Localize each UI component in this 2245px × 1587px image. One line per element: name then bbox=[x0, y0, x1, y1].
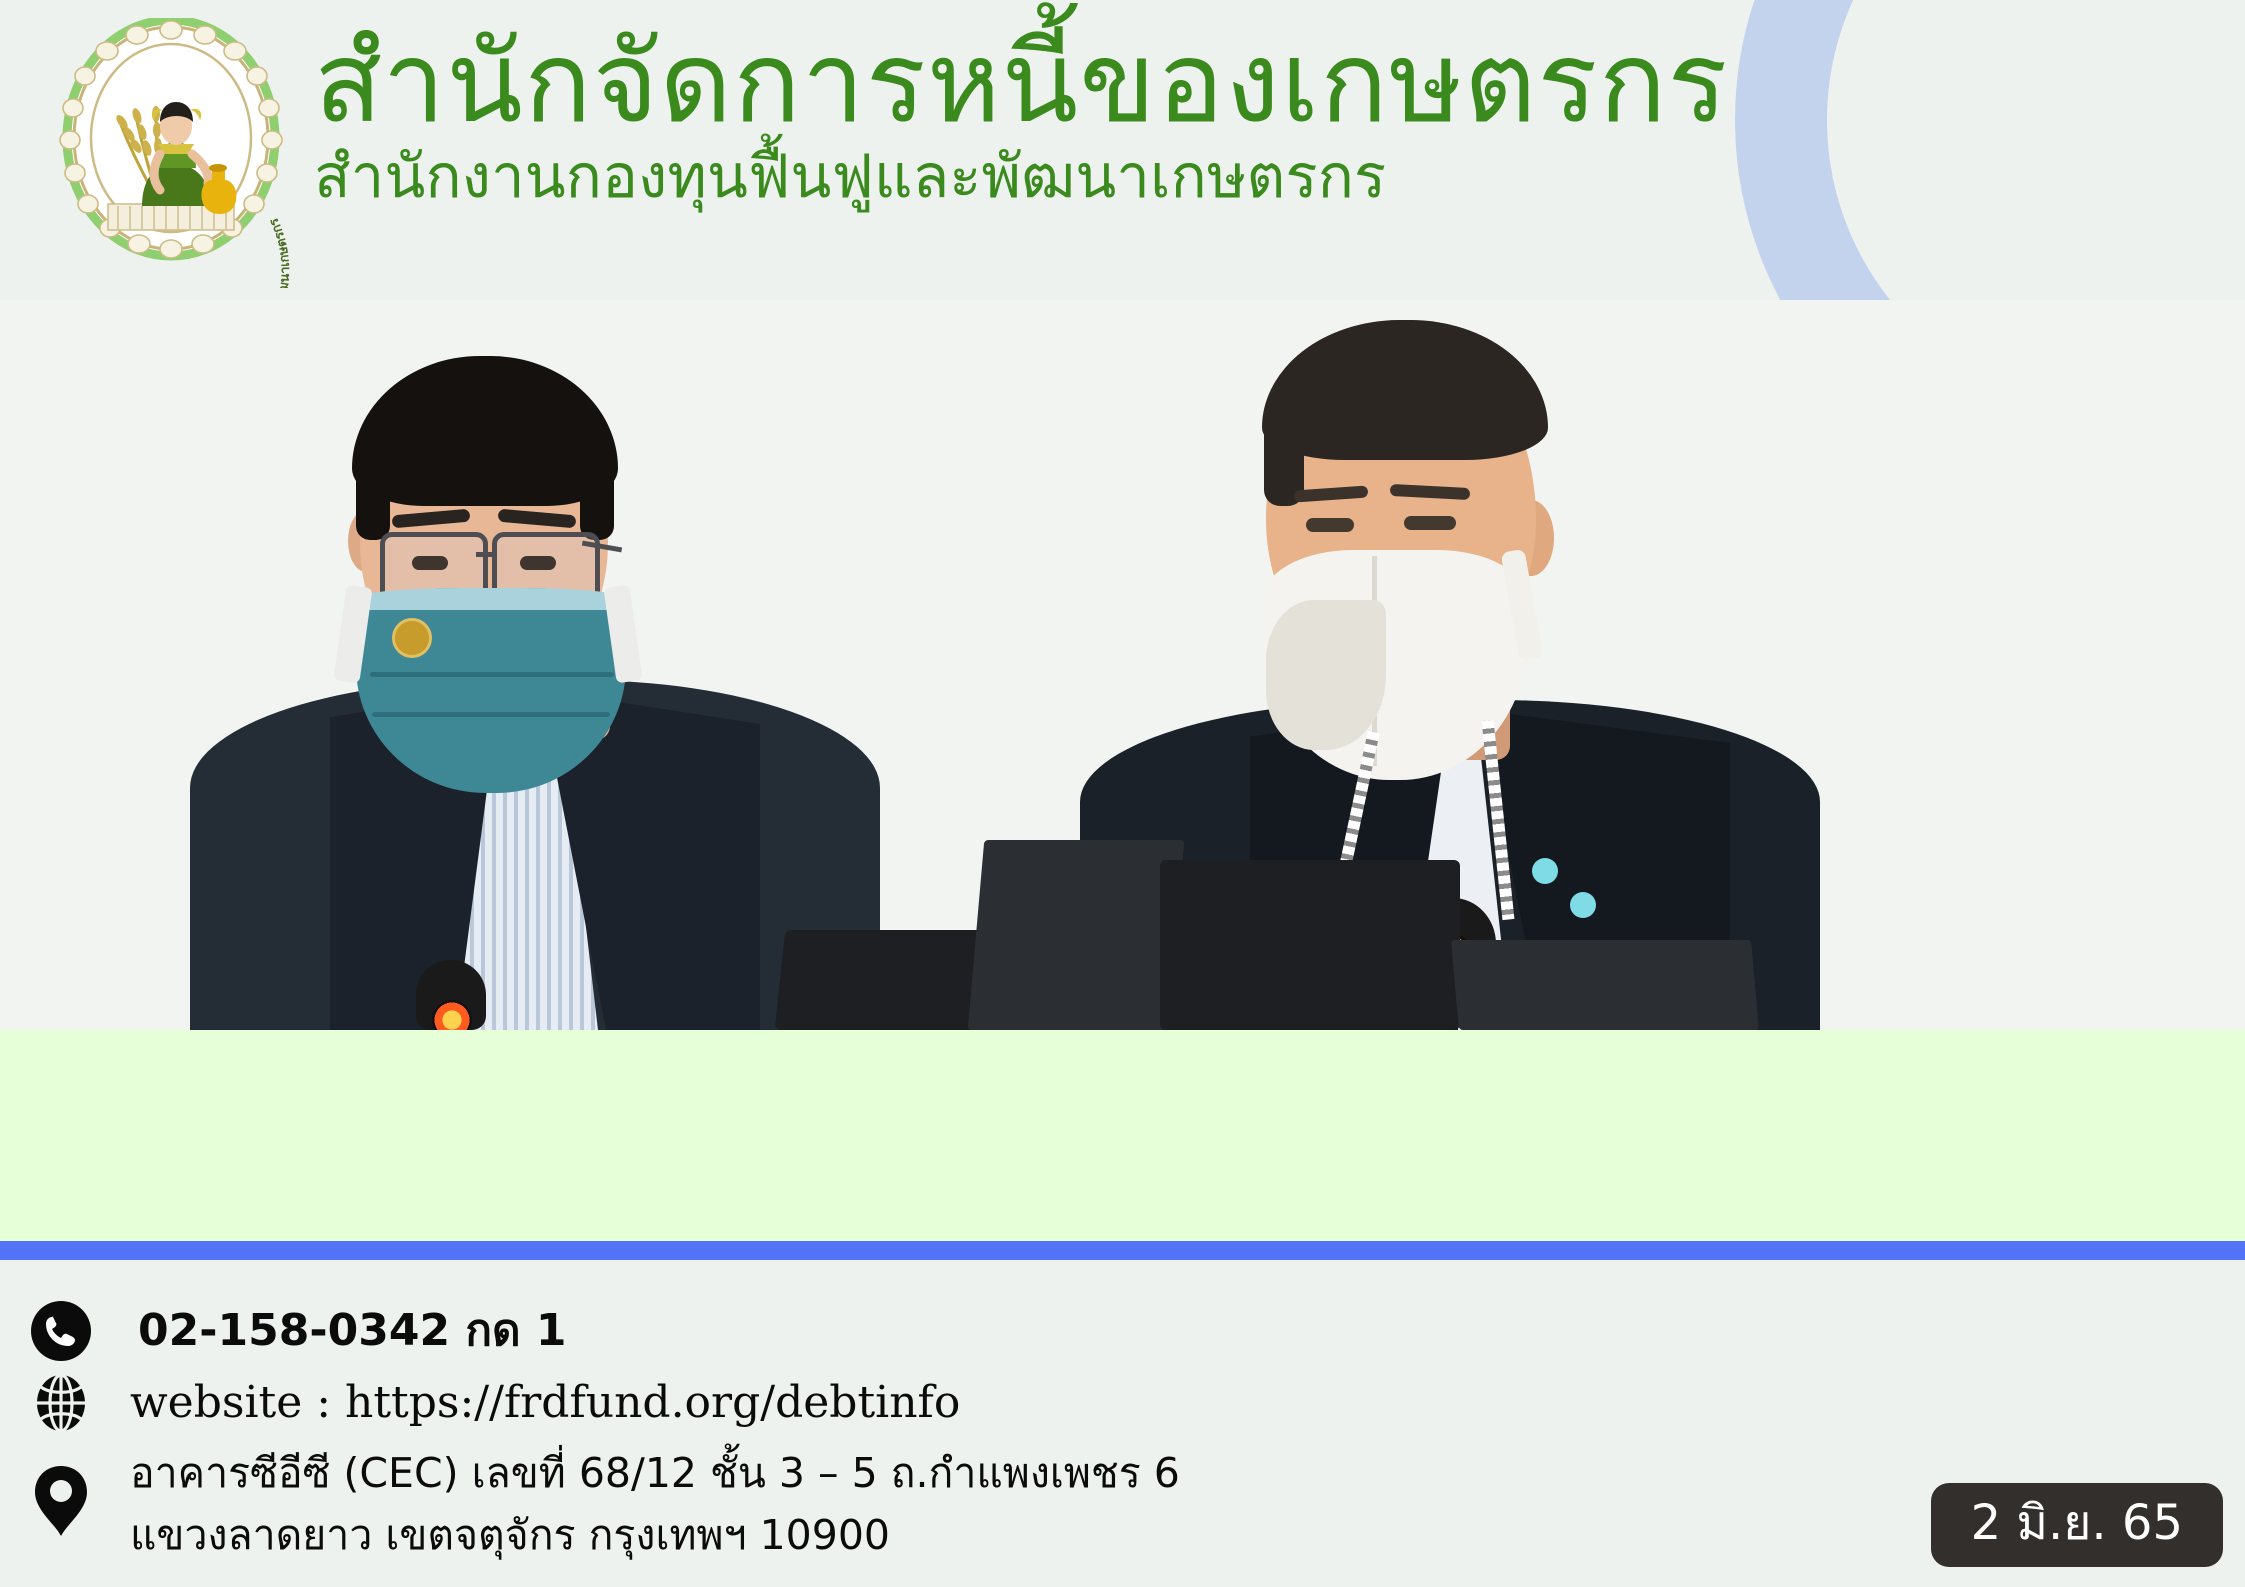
person-left-hair bbox=[352, 356, 618, 506]
frd-fund-emblem-icon: สำนักงานกองทุนฟื้นฟูและพัฒนาเกษตรกร bbox=[36, 18, 306, 288]
person-right-hair bbox=[1262, 320, 1548, 460]
address-line-2: แขวงลาดยาว เขตจตุจักร กรุงเทพฯ 10900 bbox=[130, 1504, 1180, 1566]
laptop-left-screen bbox=[968, 840, 1185, 1030]
person-left-mask-fold-2 bbox=[372, 712, 610, 717]
phone-number: 02-158-0342 กด 1 bbox=[138, 1298, 567, 1364]
location-pin-icon bbox=[28, 1468, 94, 1534]
event-photo bbox=[0, 300, 2245, 1030]
globe-icon bbox=[28, 1370, 94, 1436]
person-left-mask-top-edge bbox=[362, 588, 620, 610]
blue-divider bbox=[0, 1241, 2245, 1260]
website-url: website : https://frdfund.org/debtinfo bbox=[130, 1370, 960, 1436]
contact-address-row: อาคารซีอีซี (CEC) เลขที่ 68/12 ชั้น 3 – … bbox=[28, 1442, 1180, 1566]
event-photo-inner bbox=[0, 300, 2245, 1030]
phone-icon bbox=[28, 1298, 94, 1364]
person-left-mask-fold-1 bbox=[370, 672, 614, 677]
page-subtitle: สำนักงานกองทุนฟื้นฟูและพัฒนาเกษตรกร bbox=[314, 144, 1729, 211]
laptop-right-screen bbox=[1451, 940, 1759, 1030]
person-right-pin-2 bbox=[1570, 892, 1596, 918]
address-line-1: อาคารซีอีซี (CEC) เลขที่ 68/12 ชั้น 3 – … bbox=[130, 1442, 1180, 1504]
laptop-center bbox=[1160, 860, 1460, 1030]
person-left-hair-sideburn-left bbox=[356, 450, 390, 540]
content-band bbox=[0, 1030, 2245, 1241]
person-right-pin-1 bbox=[1532, 858, 1558, 884]
page-title: สำนักจัดการหนี้ของเกษตรกร bbox=[314, 26, 1729, 140]
header-text-block: สำนักจัดการหนี้ของเกษตรกร สำนักงานกองทุน… bbox=[314, 26, 1729, 211]
contact-phone-row[interactable]: 02-158-0342 กด 1 bbox=[28, 1298, 567, 1364]
person-left-eye-right bbox=[520, 556, 556, 570]
person-right-eye-right bbox=[1404, 516, 1456, 530]
person-left bbox=[180, 300, 900, 1030]
person-left-mask-logo bbox=[392, 618, 432, 658]
person-left-hair-sideburn-right bbox=[580, 450, 614, 540]
header: สำนักงานกองทุนฟื้นฟูและพัฒนาเกษตรกร สำนั… bbox=[0, 0, 2245, 330]
poster-root: สำนักงานกองทุนฟื้นฟูและพัฒนาเกษตรกร สำนั… bbox=[0, 0, 2245, 1587]
person-left-glasses-bridge bbox=[476, 552, 496, 557]
person-right-mask-shadow bbox=[1266, 600, 1386, 750]
person-left-eye-left bbox=[412, 556, 448, 570]
footer: 02-158-0342 กด 1 website : https://frdfu… bbox=[0, 1260, 2245, 1587]
logo-wrap: สำนักงานกองทุนฟื้นฟูและพัฒนาเกษตรกร bbox=[36, 18, 306, 288]
contact-website-row[interactable]: website : https://frdfund.org/debtinfo bbox=[28, 1370, 960, 1436]
date-badge: 2 มิ.ย. 65 bbox=[1931, 1483, 2223, 1567]
address-lines: อาคารซีอีซี (CEC) เลขที่ 68/12 ชั้น 3 – … bbox=[130, 1442, 1180, 1566]
person-right-eye-left bbox=[1306, 518, 1354, 532]
